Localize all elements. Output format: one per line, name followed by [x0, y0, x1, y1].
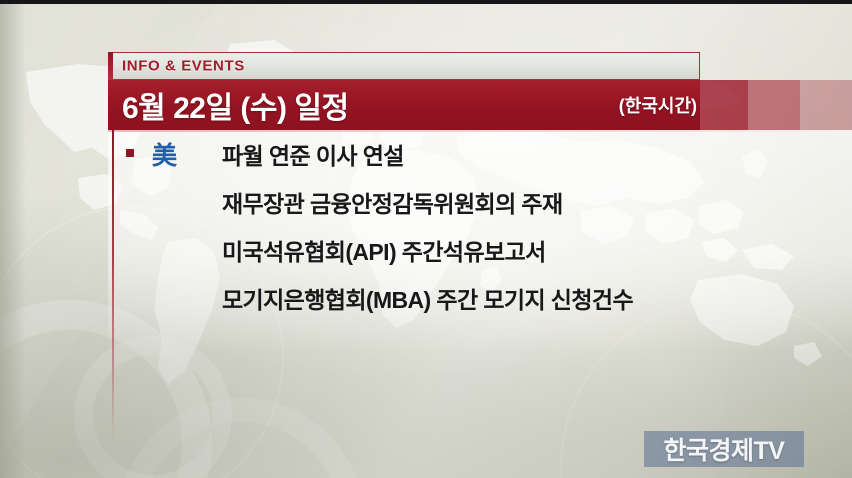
title-bar-fade-step-1 — [700, 80, 748, 130]
list-item: 모기지은행협회(MBA) 주간 모기지 신청건수 — [108, 274, 852, 322]
list-item: 재무장관 금융안정감독위원회의 주재 — [108, 178, 852, 226]
channel-logo: 한국경제TV — [644, 431, 804, 467]
kicker-accent-bar — [108, 52, 113, 80]
title-bar-fade-step-3 — [800, 80, 852, 130]
kicker-bar: INFO & EVENTS — [108, 52, 700, 80]
list-item-text: 미국석유협회(API) 주간석유보고서 — [222, 233, 546, 267]
schedule-list: 美 파월 연준 이사 연설 재무장관 금융안정감독위원회의 주재 미국석유협회(… — [108, 130, 852, 322]
list-item-text: 재무장관 금융안정감독위원회의 주재 — [222, 185, 563, 219]
title-bar-fade-step-2 — [748, 80, 800, 130]
bullet-marker-icon — [126, 149, 134, 157]
list-item-text: 파월 연준 이사 연설 — [222, 137, 404, 171]
channel-logo-text: 한국경제TV — [664, 431, 785, 467]
page-title: 6월 22일 (수) 일정 — [122, 83, 349, 127]
timezone-note: (한국시간) — [619, 92, 697, 118]
country-flag-label: 美 — [152, 136, 177, 172]
letterbox-top-bar — [0, 0, 852, 4]
left-edge-shade — [0, 0, 26, 478]
broadcast-graphic-screen: INFO & EVENTS 6월 22일 (수) 일정 (한국시간) 美 파월 … — [0, 0, 852, 478]
list-item: 美 파월 연준 이사 연설 — [108, 130, 852, 178]
list-item-text: 모기지은행협회(MBA) 주간 모기지 신청건수 — [222, 281, 633, 315]
schedule-card: INFO & EVENTS 6월 22일 (수) 일정 (한국시간) 美 파월 … — [108, 52, 852, 352]
kicker-label: INFO & EVENTS — [122, 58, 245, 75]
list-item: 미국석유협회(API) 주간석유보고서 — [108, 226, 852, 274]
title-bar: 6월 22일 (수) 일정 (한국시간) — [108, 80, 852, 130]
